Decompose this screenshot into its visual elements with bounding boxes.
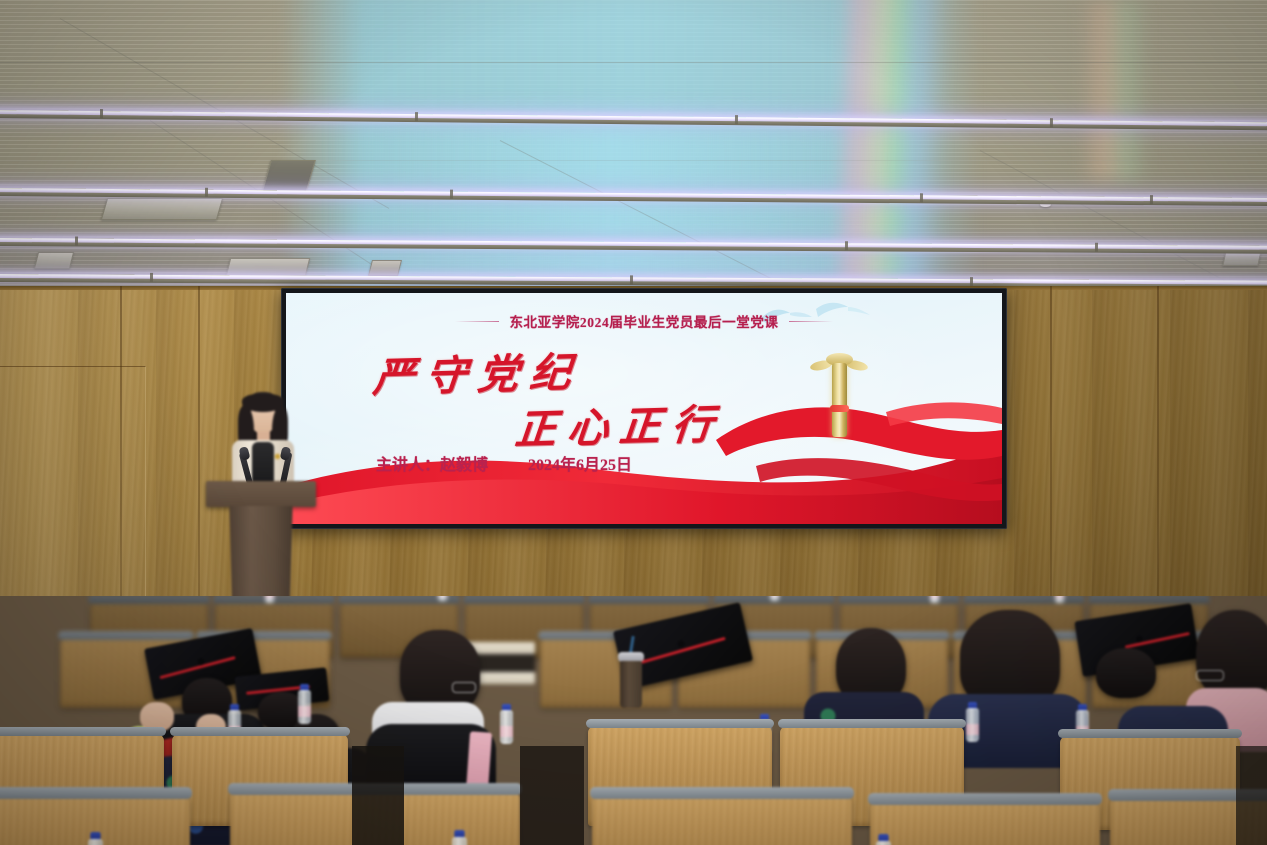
seat-top-cap	[463, 596, 585, 604]
slide-header-text: 东北亚学院2024届毕业生党员最后一堂党课	[509, 311, 778, 331]
presenter-person	[228, 392, 298, 492]
light-joint	[450, 190, 453, 199]
audience-head	[1096, 648, 1156, 698]
light-joint	[630, 275, 633, 284]
seat-top-cap	[58, 631, 194, 640]
light-joint	[920, 193, 923, 202]
presentation-slide: 东北亚学院2024届毕业生党员最后一堂党课 严守党纪 正心正行 主讲人：赵毅博 …	[286, 293, 1002, 524]
ceiling	[0, 0, 1267, 292]
aisle-gap	[1236, 746, 1267, 845]
seat[interactable]	[870, 802, 1100, 845]
bottle-label	[500, 726, 513, 737]
bottle-body	[452, 837, 467, 845]
header-rule-right	[789, 321, 833, 322]
seat-top-cap	[0, 787, 192, 799]
light-joint	[970, 277, 973, 286]
ceiling-vent	[101, 198, 223, 220]
wall-door[interactable]	[0, 366, 146, 628]
slide-metadata: 主讲人：赵毅博 2024年6月25日	[376, 451, 632, 475]
light-joint	[1050, 118, 1053, 127]
light-joint	[845, 241, 848, 250]
bottle-body	[876, 841, 891, 845]
light-joint	[1095, 243, 1098, 252]
podium-top	[206, 481, 316, 507]
eyeglasses-icon	[1196, 670, 1224, 681]
bottle-label	[1055, 596, 1064, 598]
header-rule-left	[455, 321, 499, 322]
presenter-badge-pin	[275, 454, 280, 459]
bottle-label	[930, 596, 939, 598]
slide-presenter: 主讲人：赵毅博	[376, 451, 488, 475]
light-joint	[415, 112, 418, 121]
bottle-label	[966, 724, 979, 735]
audience-head	[1196, 610, 1267, 700]
slide-header: 东北亚学院2024届毕业生党员最后一堂党课	[286, 311, 1002, 331]
slide-date: 2024年6月25日	[528, 451, 632, 475]
projection-screen-bezel: 东北亚学院2024届毕业生党员最后一堂党课 严守党纪 正心正行 主讲人：赵毅博 …	[281, 288, 1007, 529]
seat-top-cap	[778, 719, 966, 728]
bottle-label	[298, 706, 311, 717]
drink-tumbler[interactable]	[618, 652, 644, 708]
audience-seating-area	[0, 596, 1267, 845]
light-joint	[205, 188, 208, 197]
bottle-body	[770, 596, 779, 601]
light-joint	[735, 115, 738, 124]
ceiling-vent	[34, 252, 74, 269]
aisle-gap	[520, 746, 584, 845]
bottle-body	[88, 839, 103, 845]
seat-top-cap	[588, 596, 710, 604]
ceiling-seam	[0, 160, 1267, 161]
seat-top-cap	[1058, 729, 1242, 738]
seat-top-cap	[170, 727, 350, 736]
seat-top-cap	[0, 727, 166, 736]
light-joint	[150, 273, 153, 282]
seat-top-cap	[868, 793, 1102, 805]
seat-top-cap	[838, 596, 960, 604]
light-joint	[1150, 195, 1153, 204]
light-joint	[100, 109, 103, 118]
tumbler-body	[620, 661, 642, 708]
eyeglasses-icon	[452, 682, 476, 693]
seat-top-cap	[88, 596, 210, 604]
seat-top-cap	[1088, 596, 1210, 604]
seat-top-cap	[590, 787, 854, 799]
lecture-hall-photo: 东北亚学院2024届毕业生党员最后一堂党课 严守党纪 正心正行 主讲人：赵毅博 …	[0, 0, 1267, 845]
bottle-body	[438, 596, 447, 601]
seat-top-cap	[963, 596, 1085, 604]
light-joint	[75, 237, 78, 246]
bottle-label	[265, 596, 274, 598]
aisle-gap	[352, 746, 404, 845]
pillar-red-band	[830, 405, 849, 412]
golden-pillar-emblem	[824, 341, 854, 437]
pillar-shaft	[832, 363, 847, 437]
light-dispersion-rainbow-secondary	[1080, 0, 1150, 180]
seat-top-cap	[586, 719, 774, 728]
slide-title-line-2: 正心正行	[513, 390, 727, 456]
ceiling-seam	[0, 62, 1267, 63]
seat[interactable]	[592, 796, 852, 845]
